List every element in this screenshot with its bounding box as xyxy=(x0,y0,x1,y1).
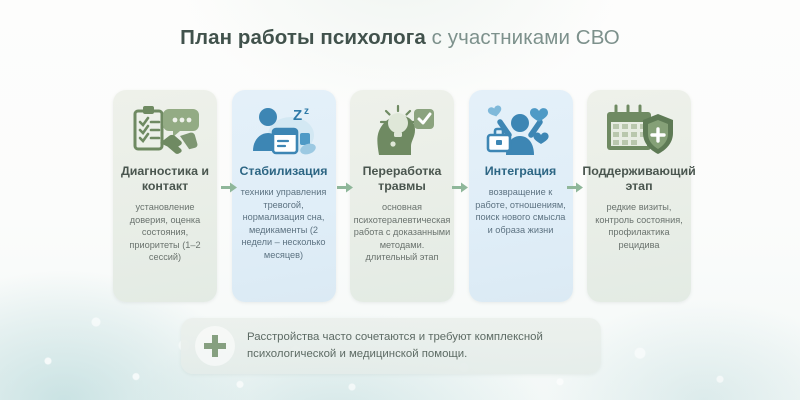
clipboard-checklist-speech-handshake-icon xyxy=(128,100,202,162)
svg-text:Z: Z xyxy=(293,107,302,124)
head-lightbulb-checkmark-icon xyxy=(365,100,439,162)
stage-heading: Стабилизация xyxy=(237,164,329,179)
summary-banner-text: Расстройства часто сочетаются и требуют … xyxy=(247,329,601,363)
summary-banner: Расстройства часто сочетаются и требуют … xyxy=(181,318,601,374)
person-arms-up-briefcase-hearts-icon xyxy=(484,100,558,162)
stage-card-diagnostika[interactable]: Диагностика и контакт установление довер… xyxy=(113,90,217,302)
stage-body: основная психотералевтическая работа с д… xyxy=(353,201,452,264)
stage-body: установление доверия, оценка состояния, … xyxy=(116,201,214,264)
stage-card-stabilizaciya[interactable]: Z z Стабилизация техники управления трев… xyxy=(232,90,336,302)
stage-body: возвращение к работе, отношениям, поиск … xyxy=(472,186,570,236)
stage-card-integraciya[interactable]: Интеграция возвращение к работе, отношен… xyxy=(469,90,573,302)
arrow-right-icon-2 xyxy=(337,180,353,194)
stage-card-pererabotka[interactable]: Переработка травмы основная психотералев… xyxy=(350,90,454,302)
infographic-canvas: План работы психолога с участниками СВО xyxy=(0,0,800,400)
stage-heading: Переработка травмы xyxy=(353,164,451,194)
stage-body: техники управления тревогой, нормализаци… xyxy=(235,186,333,262)
title-light: с участниками СВО xyxy=(432,26,620,49)
title-strong: План работы психолога xyxy=(180,26,426,49)
stage-card-list: Диагностика и контакт установление довер… xyxy=(113,90,691,302)
medical-cross-icon xyxy=(195,326,235,366)
svg-text:z: z xyxy=(304,106,309,117)
stage-heading: Интеграция xyxy=(483,164,558,179)
person-sleep-medication-icon: Z z xyxy=(247,100,321,162)
stage-heading: Поддерживающий этап xyxy=(580,164,697,194)
calendar-shield-plus-icon xyxy=(602,100,676,162)
arrow-right-icon-3 xyxy=(452,180,468,194)
stage-card-podderzhivayushchiy[interactable]: Поддерживающий этап редкие визиты, контр… xyxy=(587,90,691,302)
stage-heading: Диагностика и контакт xyxy=(116,164,214,194)
arrow-right-icon-4 xyxy=(567,180,583,194)
page-title: План работы психолога с участниками СВО xyxy=(0,26,800,50)
arrow-right-icon-1 xyxy=(221,180,237,194)
stage-body: редкие визиты, контроль состояния, профи… xyxy=(590,201,688,251)
